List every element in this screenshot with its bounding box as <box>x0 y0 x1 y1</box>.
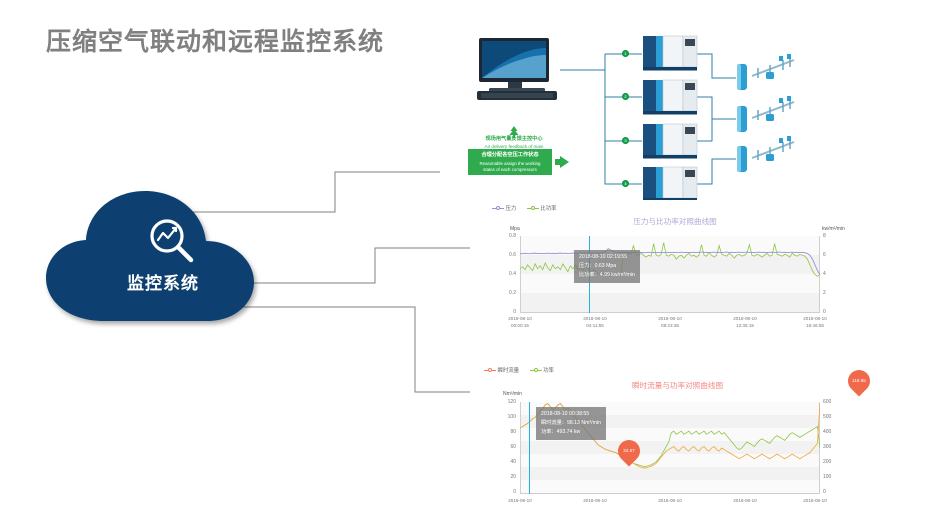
pneumatic-tools-icon <box>750 54 798 84</box>
chart-flow-power: 瞬时流量 功率 瞬时流量与功率对照曲线图 Nm³/min 120 100 80 … <box>470 362 880 529</box>
air-tank-icon <box>736 144 748 174</box>
chart2-cursor[interactable] <box>529 402 530 494</box>
legend-marker-icon <box>530 368 542 373</box>
chart2-tooltip: 2018-08-10 00:38:55 瞬时流量：98.13 Nm³/min 功… <box>536 407 606 440</box>
status-badge-en-1: Reasonable assign the working <box>479 161 540 166</box>
chart2-xtick-date: 2018-08-10 <box>733 498 757 503</box>
chart2-xtick: 2018-08-10 <box>498 498 542 505</box>
chart2-legend-item-1[interactable]: 功率 <box>530 366 554 374</box>
chart1-tooltip-row-0: 压力：0.63 Mpa <box>579 262 635 271</box>
chart1-xtick: 2018-08-10 00:00:15 <box>498 316 542 329</box>
chart1-xtick-date: 2018-08-10 <box>803 316 827 321</box>
chart2-legend-label-1: 功率 <box>543 368 554 374</box>
chart1-ylabel: Mpa <box>510 226 520 232</box>
chart1-xtick-time: 12:35:15 <box>736 323 754 328</box>
chart1-tooltip-time: 2018-08-10 02:19:55 <box>579 253 635 262</box>
chart1-xtick: 2018-08-10 16:46:55 <box>793 316 837 329</box>
chart1-xtick-time: 00:00:15 <box>511 323 529 328</box>
chart2-xtick: 2018-08-10 <box>648 498 692 505</box>
legend-marker-icon <box>492 206 504 211</box>
chart1-xtick: 2018-08-10 04:11:55 <box>573 316 617 329</box>
chart1-ylabel-right: kw/m³/min <box>822 226 845 232</box>
pneumatic-tools-icon <box>750 136 798 166</box>
cloud-label: 监控系统 <box>38 269 288 294</box>
chart1-legend-item-0[interactable]: 压力 <box>492 204 516 212</box>
chart2-ylabel: Nm³/min <box>503 391 522 397</box>
chart2-ytick: 40 <box>500 459 516 465</box>
chart1-ytick: 0.2 <box>500 290 516 296</box>
chart1-ytick-right: 0 <box>823 309 837 315</box>
chart2-tooltip-time: 2018-08-10 00:38:55 <box>541 410 601 419</box>
chart1-xtick-time: 04:11:55 <box>586 323 604 328</box>
chart1-tooltip: 2018-08-10 02:19:55 压力：0.63 Mpa 比功率：4.99… <box>574 250 640 283</box>
chart2-ytick: 60 <box>500 444 516 450</box>
chart2-ytick: 20 <box>500 474 516 480</box>
chart1-xtick-date: 2018-08-10 <box>733 316 757 321</box>
chart2-xtick-date: 2018-08-10 <box>508 498 532 503</box>
pneumatic-tools-icon <box>750 96 798 126</box>
node-dot-2[interactable]: 2 <box>622 93 629 100</box>
chart1-ytick: 0.4 <box>500 271 516 277</box>
chart2-xtick-date: 2018-08-10 <box>658 498 682 503</box>
arrow-right-icon <box>560 156 569 168</box>
chart1-xtick-date: 2018-08-10 <box>583 316 607 321</box>
node-dot-3[interactable]: 3 <box>622 137 629 144</box>
chart2-ytick-right: 500 <box>823 414 837 420</box>
chart1-legend[interactable]: 压力 比功率 <box>492 204 565 212</box>
chart2-tooltip-row-1: 功率：493.74 kw <box>541 428 601 437</box>
chart1-ytick: 0.8 <box>500 233 516 239</box>
status-badge-assign: 合理分配各空压工作状态 Reasonable assign the workin… <box>468 149 552 175</box>
chart2-marker-pin-low[interactable]: 33.87 <box>613 435 644 466</box>
chart2-legend[interactable]: 瞬时流量 功率 <box>484 366 563 374</box>
chart1-xtick-time: 08:23:35 <box>661 323 679 328</box>
chart2-ytick-right: 100 <box>823 474 837 480</box>
chart1-ytick: 0 <box>500 309 516 315</box>
chart1-ytick: 0.6 <box>500 252 516 258</box>
chart1-xtick-date: 2018-08-10 <box>658 316 682 321</box>
chart1-series-pressure <box>520 249 820 275</box>
chart2-ytick-right: 400 <box>823 429 837 435</box>
chart2-marker-pin-high[interactable]: 118.55 <box>843 365 874 396</box>
status-badge-cn: 合理分配各空压工作状态 <box>468 152 552 160</box>
compressor-icon[interactable] <box>642 35 698 71</box>
chart2-ytick: 0 <box>500 489 516 495</box>
magnifier-chart-icon <box>146 215 198 267</box>
chart1-legend-label-0: 压力 <box>506 206 517 212</box>
air-tank-icon <box>736 62 748 92</box>
node-dot-4[interactable]: 4 <box>622 180 629 187</box>
chart2-ytick-right: 600 <box>823 399 837 405</box>
chart1-ytick-right: 2 <box>823 290 837 296</box>
chart1-legend-label-1: 比功率 <box>540 206 556 212</box>
chart2-xtick: 2018-08-10 <box>573 498 617 505</box>
chart1-xtick-time: 16:46:55 <box>806 323 824 328</box>
chart2-marker-label-high: 118.55 <box>848 370 870 392</box>
compressor-icon[interactable] <box>642 166 698 202</box>
chart2-tooltip-row-0: 瞬时流量：98.13 Nm³/min <box>541 419 601 428</box>
chart1-title: 压力与比功率对照曲线图 <box>575 216 775 227</box>
chart2-xtick-date: 2018-08-10 <box>583 498 607 503</box>
legend-marker-icon <box>484 368 496 373</box>
node-dot-1[interactable]: 1 <box>622 50 629 57</box>
legend-marker-icon <box>527 206 539 211</box>
chart1-series-specific-power <box>520 243 820 277</box>
chart2-title: 瞬时流量与功率对照曲线图 <box>570 380 785 391</box>
chart2-ytick: 100 <box>500 414 516 420</box>
slide-canvas: 压缩空气联动和远程监控系统 监控系统 <box>0 0 945 529</box>
chart2-xtick: 2018-08-10 <box>723 498 767 505</box>
compressor-icon[interactable] <box>642 123 698 159</box>
chart2-ytick-right: 300 <box>823 444 837 450</box>
monitoring-cloud[interactable]: 监控系统 <box>38 183 288 328</box>
chart2-legend-item-0[interactable]: 瞬时流量 <box>484 366 519 374</box>
status-badge-en-2: states of each compressors <box>483 167 537 172</box>
chart1-ytick-right: 8 <box>823 233 837 239</box>
chart2-ytick: 80 <box>500 429 516 435</box>
chart-pressure-power: 压力 比功率 压力与比功率对照曲线图 Mpa kw/m³/min 0.8 0.6… <box>470 200 880 335</box>
chart1-xtick: 2018-08-10 08:23:35 <box>648 316 692 329</box>
chart2-ytick-right: 0 <box>823 489 837 495</box>
chart2-legend-label-0: 瞬时流量 <box>498 368 520 374</box>
air-tank-icon <box>736 104 748 134</box>
system-diagram: 现场用气量反馈主控中心 Air delivery feedback of mai… <box>450 24 942 202</box>
chart1-legend-item-1[interactable]: 比功率 <box>527 204 557 212</box>
chart2-xtick: 2018-08-10 <box>793 498 837 505</box>
chart1-series-layer <box>520 236 820 313</box>
chart1-xtick-date: 2018-08-10 <box>508 316 532 321</box>
chart1-ytick-right: 6 <box>823 252 837 258</box>
chart2-marker-label-low: 33.87 <box>618 440 640 462</box>
compressor-icon[interactable] <box>642 79 698 115</box>
chart2-ytick: 120 <box>500 399 516 405</box>
chart1-ytick-right: 4 <box>823 271 837 277</box>
chart2-ytick-right: 200 <box>823 459 837 465</box>
chart1-tooltip-row-1: 比功率：4.99 kw/m³/min <box>579 271 635 280</box>
chart1-xtick: 2018-08-10 12:35:15 <box>723 316 767 329</box>
chart2-xtick-date: 2018-08-10 <box>803 498 827 503</box>
